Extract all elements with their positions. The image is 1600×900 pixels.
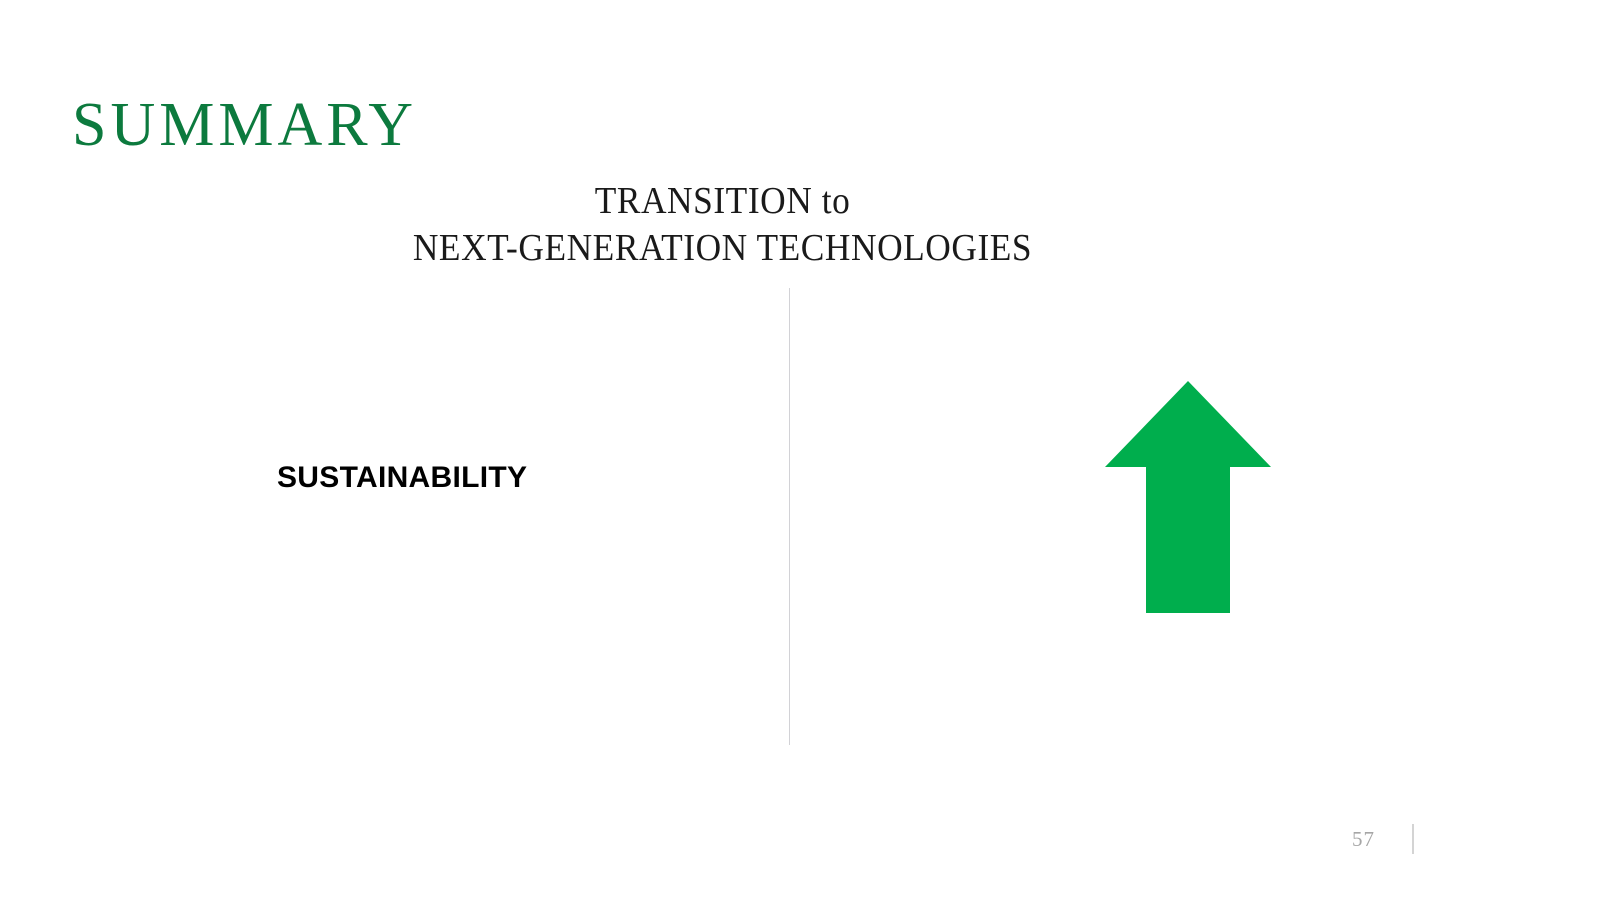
section-heading: TRANSITION to NEXT-GENERATION TECHNOLOGI… (300, 178, 1145, 272)
section-heading-line-2: NEXT-GENERATION TECHNOLOGIES (330, 225, 1116, 272)
page-title: SUMMARY (72, 90, 417, 160)
right-column (800, 288, 1540, 745)
section-heading-line-1: TRANSITION to (330, 178, 1116, 225)
slide-canvas: SUMMARY TRANSITION to NEXT-GENERATION TE… (0, 0, 1600, 900)
left-column: SUSTAINABILITY (277, 458, 747, 498)
page-number: 57 (1352, 826, 1375, 852)
pillar-label-sustainability: SUSTAINABILITY (277, 458, 747, 498)
column-divider (789, 288, 790, 745)
footer-tick-mark (1412, 824, 1414, 854)
arrow-up-icon (1105, 381, 1271, 613)
